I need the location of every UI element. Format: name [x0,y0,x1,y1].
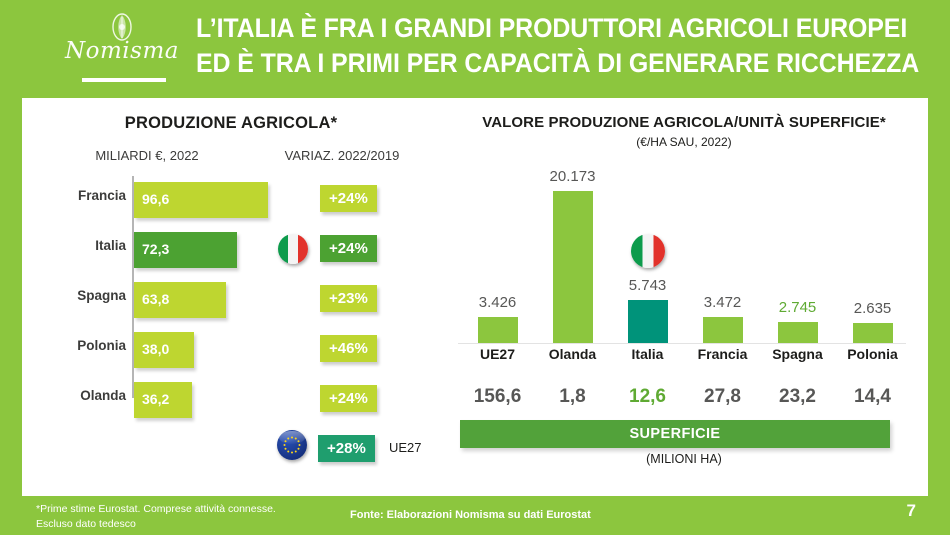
left-chart-values-header: MILIARDI €, 2022 [32,148,262,163]
value-label: 2.745 [779,299,817,316]
page-title-line-2: ED È TRA I PRIMI PER CAPACITÀ DI GENERAR… [196,46,892,81]
left-chart-title: PRODUZIONE AGRICOLA* [22,114,440,133]
value-bar [778,322,818,343]
production-row: Polonia38,0+46% [22,326,440,376]
value-bar [628,300,668,343]
surface-values-row: 156,61,812,627,823,214,4 [458,386,910,414]
surface-value: 23,2 [760,386,835,408]
value-column: 2.745 [760,158,835,343]
slide-footer: *Prime stime Eurostat. Comprese attività… [0,496,950,535]
right-chart-subtitle: (€/HA SAU, 2022) [440,135,928,149]
slide: Nomisma L’ITALIA È FRA I GRANDI PRODUTTO… [0,0,950,535]
surface-value: 27,8 [685,386,760,408]
logo-wordmark: Nomisma [58,38,186,64]
right-chart: VALORE PRODUZIONE AGRICOLA/UNITÀ SUPERFI… [440,98,928,496]
production-row: Francia96,6+24% [22,176,440,226]
production-row: Spagna63,8+23% [22,276,440,326]
value-bar [478,317,518,343]
category-label: Italia [610,346,685,362]
left-chart-variation-header: VARIAZ. 2022/2019 [252,148,432,163]
production-bar-value: 72,3 [142,241,169,257]
production-bar: 36,2 [134,382,192,418]
right-chart-plot: 3.42620.1735.7433.4722.7452.635 [458,158,910,343]
category-label: UE27 [460,346,535,362]
value-label: 3.472 [704,294,742,311]
value-bar [853,323,893,343]
category-label: Polonia [835,346,910,362]
country-label: Italia [22,238,126,253]
page-title-line-1: L’ITALIA È FRA I GRANDI PRODUTTORI AGRIC… [196,11,892,46]
category-label: Spagna [760,346,835,362]
variation-badge: +23% [320,285,377,312]
value-label: 2.635 [854,300,892,317]
value-bar [553,191,593,343]
variation-badge: +24% [320,185,377,212]
production-bar: 72,3 [134,232,237,268]
left-chart: PRODUZIONE AGRICOLA* MILIARDI €, 2022 VA… [22,98,440,496]
country-label: Polonia [22,338,126,353]
production-bar-value: 96,6 [142,191,169,207]
surface-value: 14,4 [835,386,910,408]
variation-badge: +46% [320,335,377,362]
content-panel: PRODUZIONE AGRICOLA* MILIARDI €, 2022 VA… [22,98,928,496]
value-column: 2.635 [835,158,910,343]
country-label: Francia [22,188,126,203]
category-label: Olanda [535,346,610,362]
eu-stars-icon [277,430,307,460]
page-title: L’ITALIA È FRA I GRANDI PRODUTTORI AGRIC… [196,11,892,81]
footnote: *Prime stime Eurostat. Comprese attività… [36,502,336,532]
right-chart-category-labels: UE27OlandaItaliaFranciaSpagnaPolonia [458,346,910,372]
variation-badge: +24% [320,235,377,262]
nomisma-logo: Nomisma [58,10,186,86]
surface-unit-label: (MILIONI HA) [440,452,928,466]
variation-badge: +24% [320,385,377,412]
footnote-line-2: Escluso dato tedesco [36,518,136,530]
value-label: 5.743 [629,277,667,294]
production-row: Italia72,3+24% [22,226,440,276]
value-column: 20.173 [535,158,610,343]
value-label: 3.426 [479,294,517,311]
surface-value: 156,6 [460,386,535,408]
value-bar [703,317,743,343]
right-chart-title: VALORE PRODUZIONE AGRICOLA/UNITÀ SUPERFI… [440,114,928,131]
source-label: Fonte: Elaborazioni Nomisma su dati Euro… [350,509,770,521]
logo-underline [82,78,166,82]
page-number: 7 [907,501,916,521]
eu-flag-icon [277,430,307,460]
ue27-label: UE27 [389,440,422,455]
surface-value: 12,6 [610,386,685,408]
value-column: 3.426 [460,158,535,343]
category-label: Francia [685,346,760,362]
production-bar: 96,6 [134,182,268,218]
country-label: Spagna [22,288,126,303]
right-chart-baseline [458,343,906,344]
production-row: Olanda36,2+24% [22,376,440,426]
italy-flag-icon [631,234,665,268]
production-bar: 63,8 [134,282,226,318]
slide-header: Nomisma L’ITALIA È FRA I GRANDI PRODUTTO… [0,0,950,98]
italy-flag-icon [278,234,308,264]
value-column: 5.743 [610,158,685,343]
ue27-summary-row: +28% UE27 [22,426,440,466]
value-column: 3.472 [685,158,760,343]
production-bar-value: 38,0 [142,341,169,357]
production-bar: 38,0 [134,332,194,368]
surface-bar: SUPERFICIE [460,420,890,448]
footnote-line-1: *Prime stime Eurostat. Comprese attività… [36,503,276,515]
production-bar-value: 36,2 [142,391,169,407]
surface-value: 1,8 [535,386,610,408]
value-label: 20.173 [550,168,596,185]
country-label: Olanda [22,388,126,403]
production-bar-value: 63,8 [142,291,169,307]
ue27-variation-badge: +28% [318,435,375,462]
